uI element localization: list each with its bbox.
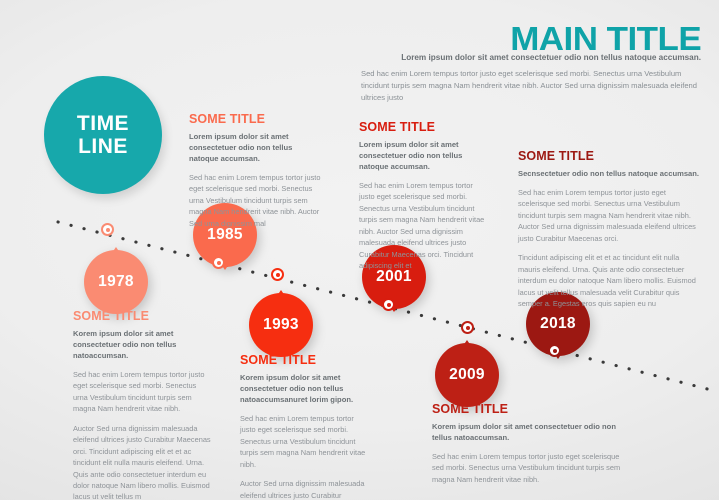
timeline-node-marker-2009[interactable] [461, 321, 474, 334]
pin-tail-icon-1978 [107, 247, 125, 260]
node-dot-icon-1993 [276, 273, 280, 277]
milestone-lead-2018: Secnsectetuer odio non tellus natoque ac… [518, 168, 703, 179]
milestone-title-1985: SOME TITLE [189, 113, 323, 127]
timeline-badge-line1: TIME [77, 112, 129, 135]
header-body-text: Sed hac enim Lorem tempus tortor justo e… [361, 68, 701, 103]
timeline-pin-1993[interactable]: 1993 [249, 293, 313, 357]
milestone-paragraph-2009-1: Sed hac enim Lorem tempus tortor justo e… [432, 451, 622, 485]
node-dot-icon-1978 [106, 228, 110, 232]
milestone-paragraph-1978-2: Auctor Sed urna dignissim malesuada elei… [73, 423, 213, 500]
milestone-paragraph-2018-1: Sed hac enim Lorem tempus tortor justo e… [518, 187, 703, 244]
timeline-node-marker-1985[interactable] [212, 256, 225, 269]
milestone-lead-2001: Lorem ipsum dolor sit amet consectetuer … [359, 139, 487, 172]
pin-tail-icon-1993 [272, 290, 290, 303]
node-dot-icon-2001 [387, 303, 391, 307]
timeline-pin-year-1978: 1978 [98, 273, 134, 291]
timeline-badge: TIME LINE [44, 76, 162, 194]
milestone-block-1985: SOME TITLELorem ipsum dolor sit amet con… [189, 113, 323, 237]
node-dot-icon-2009 [466, 326, 470, 330]
milestone-paragraph-2018-2: Tincidunt adipiscing elit et et ac tinci… [518, 252, 703, 309]
timeline-pin-year-1993: 1993 [263, 316, 299, 334]
milestone-title-2001: SOME TITLE [359, 121, 487, 135]
milestone-title-2018: SOME TITLE [518, 150, 703, 164]
milestone-title-1993: SOME TITLE [240, 354, 370, 368]
milestone-block-1978: SOME TITLEKorem ipsum dolor sit amet con… [73, 310, 213, 500]
milestone-lead-1993: Korem ipsum dolor sit amet consectetuer … [240, 372, 370, 405]
header-lead-text: Lorem ipsum dolor sit amet consectetuer … [211, 52, 701, 63]
timeline-node-marker-2001[interactable] [382, 298, 395, 311]
milestone-block-2009: SOME TITLEKorem ipsum dolor sit amet con… [432, 403, 622, 493]
timeline-pin-1978[interactable]: 1978 [84, 250, 148, 314]
pin-tail-icon-2009 [458, 340, 476, 353]
node-dot-icon-1985 [217, 261, 221, 265]
timeline-pin-2009[interactable]: 2009 [435, 343, 499, 407]
timeline-badge-line2: LINE [78, 135, 128, 158]
milestone-block-2018: SOME TITLESecnsectetuer odio non tellus … [518, 150, 703, 317]
milestone-paragraph-1978-1: Sed hac enim Lorem tempus tortor justo e… [73, 369, 213, 415]
milestone-title-1978: SOME TITLE [73, 310, 213, 324]
milestone-paragraph-2001-1: Sed hac enim Lorem tempus tortor justo e… [359, 180, 487, 272]
milestone-lead-2009: Korem ipsum dolor sit amet consectetuer … [432, 421, 622, 443]
page-title: MAIN TITLE [510, 22, 701, 55]
node-dot-icon-2018 [553, 349, 557, 353]
milestone-lead-1978: Korem ipsum dolor sit amet consectetuer … [73, 328, 213, 361]
timeline-node-marker-2018[interactable] [548, 344, 561, 357]
milestone-block-1993: SOME TITLEKorem ipsum dolor sit amet con… [240, 354, 370, 500]
timeline-node-marker-1993[interactable] [271, 268, 284, 281]
milestone-block-2001: SOME TITLELorem ipsum dolor sit amet con… [359, 121, 487, 280]
milestone-paragraph-1985-1: Sed hac enim Lorem tempus tortor justo e… [189, 172, 323, 229]
timeline-node-marker-1978[interactable] [101, 223, 114, 236]
timeline-infographic: MAIN TITLE Lorem ipsum dolor sit amet co… [0, 0, 719, 500]
timeline-pin-year-2018: 2018 [540, 315, 576, 333]
milestone-paragraph-1993-1: Sed hac enim Lorem tempus tortor justo e… [240, 413, 370, 470]
milestone-lead-1985: Lorem ipsum dolor sit amet consectetuer … [189, 131, 323, 164]
timeline-pin-year-2009: 2009 [449, 366, 485, 384]
milestone-title-2009: SOME TITLE [432, 403, 622, 417]
milestone-paragraph-1993-2: Auctor Sed urna dignissim malesuada elei… [240, 478, 370, 500]
